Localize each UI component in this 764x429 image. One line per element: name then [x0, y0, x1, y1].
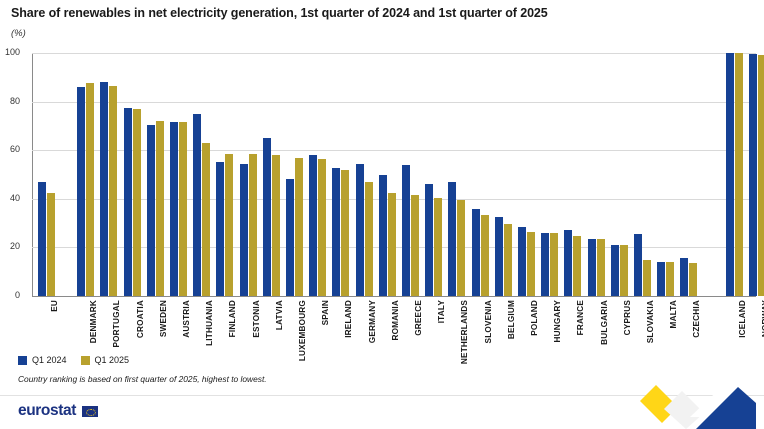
- bar-q1-2024[interactable]: [332, 168, 340, 296]
- x-axis-category-label: ROMANIA: [391, 300, 400, 341]
- bar-group: DENMARK: [77, 53, 95, 296]
- x-axis-category-label: FRANCE: [576, 300, 585, 335]
- bar-q1-2024[interactable]: [356, 164, 364, 296]
- bar-q1-2025[interactable]: [550, 233, 558, 296]
- bar-q1-2024[interactable]: [216, 162, 224, 296]
- bar-q1-2024[interactable]: [564, 230, 572, 296]
- bar-q1-2025[interactable]: [249, 154, 257, 296]
- y-axis-tick-label: 60: [0, 144, 20, 154]
- bar-q1-2025[interactable]: [411, 195, 419, 296]
- x-axis-category-label: CYPRUS: [623, 300, 632, 335]
- x-axis-category-label: IRELAND: [344, 300, 353, 338]
- x-axis-category-label: SLOVAKIA: [646, 300, 655, 343]
- bar-q1-2025[interactable]: [388, 193, 396, 296]
- bar-group: CYPRUS: [611, 53, 629, 296]
- bar-q1-2024[interactable]: [495, 217, 503, 296]
- bar-q1-2024[interactable]: [657, 262, 665, 296]
- legend-label-q1-2025: Q1 2025: [95, 355, 130, 365]
- bar-q1-2024[interactable]: [680, 258, 688, 296]
- legend-swatch-q1-2024: [18, 356, 27, 365]
- bar-q1-2025[interactable]: [620, 245, 628, 296]
- bar-group: ICELAND: [726, 53, 744, 296]
- x-axis-category-label: PORTUGAL: [112, 300, 121, 348]
- bar-q1-2024[interactable]: [541, 233, 549, 296]
- y-axis-tick-label: 0: [0, 290, 20, 300]
- chart-title: Share of renewables in net electricity g…: [11, 6, 548, 20]
- y-axis-tick-label: 40: [0, 193, 20, 203]
- bar-q1-2025[interactable]: [47, 193, 55, 296]
- x-axis-category-label: DENMARK: [89, 300, 98, 343]
- bar-q1-2025[interactable]: [341, 170, 349, 296]
- bar-q1-2025[interactable]: [272, 155, 280, 296]
- bar-q1-2025[interactable]: [133, 109, 141, 296]
- bar-group: POLAND: [518, 53, 536, 296]
- y-axis-tick-label: 20: [0, 241, 20, 251]
- bar-q1-2024[interactable]: [240, 164, 248, 296]
- bar-group: NORWAY: [749, 53, 764, 296]
- x-axis-category-label: SWEDEN: [159, 300, 168, 337]
- bar-q1-2025[interactable]: [225, 154, 233, 296]
- bar-group: LITHUANIA: [193, 53, 211, 296]
- bar-group: HUNGARY: [541, 53, 559, 296]
- x-axis-category-label: LITHUANIA: [205, 300, 214, 346]
- bar-group: IRELAND: [332, 53, 350, 296]
- x-axis-category-label: LUXEMBOURG: [298, 300, 307, 361]
- bar-group: ESTONIA: [240, 53, 258, 296]
- bar-q1-2025[interactable]: [457, 200, 465, 296]
- bar-q1-2025[interactable]: [735, 53, 743, 296]
- bar-q1-2024[interactable]: [379, 175, 387, 297]
- chart-unit-label: (%): [11, 28, 26, 39]
- x-axis-category-label: GERMANY: [368, 300, 377, 343]
- bar-group: GREECE: [402, 53, 420, 296]
- decorative-ribbon: [634, 357, 764, 429]
- bar-group: ITALY: [425, 53, 443, 296]
- bar-q1-2025[interactable]: [597, 239, 605, 296]
- bar-q1-2024[interactable]: [634, 234, 642, 296]
- bar-q1-2025[interactable]: [481, 215, 489, 296]
- bar-q1-2025[interactable]: [527, 232, 535, 296]
- y-axis-tick-label: 100: [0, 47, 20, 57]
- x-axis-category-label: AUSTRIA: [182, 300, 191, 338]
- bar-q1-2025[interactable]: [504, 224, 512, 296]
- bar-q1-2024[interactable]: [38, 182, 46, 296]
- bar-q1-2024[interactable]: [588, 239, 596, 296]
- bar-group: EU: [38, 53, 56, 296]
- x-axis-category-label: CZECHIA: [692, 300, 701, 338]
- bar-series-container: EUDENMARKPORTUGALCROATIASWEDENAUSTRIALIT…: [32, 53, 756, 296]
- eu-flag-icon: [82, 406, 98, 417]
- bar-group: CZECHIA: [680, 53, 698, 296]
- bar-q1-2024[interactable]: [402, 165, 410, 296]
- x-axis-category-label: BELGIUM: [507, 300, 516, 339]
- bar-group: BELGIUM: [495, 53, 513, 296]
- x-axis-category-label: ICELAND: [738, 300, 747, 338]
- bar-group: LATVIA: [263, 53, 281, 296]
- chart-footnote: Country ranking is based on first quarte…: [18, 374, 267, 384]
- bar-group: CROATIA: [124, 53, 142, 296]
- bar-q1-2025[interactable]: [573, 236, 581, 296]
- bar-q1-2024[interactable]: [448, 182, 456, 296]
- bar-q1-2024[interactable]: [263, 138, 271, 296]
- chart-page: Share of renewables in net electricity g…: [0, 0, 764, 429]
- bar-group: ROMANIA: [379, 53, 397, 296]
- gridline: [32, 296, 756, 297]
- bar-group: LUXEMBOURG: [286, 53, 304, 296]
- bar-group: GERMANY: [356, 53, 374, 296]
- x-axis-category-label: FINLAND: [228, 300, 237, 337]
- legend-swatch-q1-2025: [81, 356, 90, 365]
- bar-q1-2024[interactable]: [147, 125, 155, 296]
- x-axis-category-label: HUNGARY: [553, 300, 562, 343]
- x-axis-category-label: CROATIA: [136, 300, 145, 338]
- bar-q1-2024[interactable]: [77, 87, 85, 296]
- x-axis-category-label: MALTA: [669, 300, 678, 328]
- bar-q1-2024[interactable]: [749, 54, 757, 296]
- bar-group: SPAIN: [309, 53, 327, 296]
- bar-q1-2024[interactable]: [518, 227, 526, 296]
- bar-q1-2025[interactable]: [295, 158, 303, 297]
- bar-group: SWEDEN: [147, 53, 165, 296]
- bar-q1-2025[interactable]: [318, 159, 326, 296]
- bar-q1-2025[interactable]: [202, 143, 210, 296]
- plot-area: 020406080100 EUDENMARKPORTUGALCROATIASWE…: [32, 53, 756, 296]
- x-axis-category-label: LATVIA: [275, 300, 284, 330]
- eurostat-logo: eurostat: [18, 402, 98, 420]
- bar-group: BULGARIA: [588, 53, 606, 296]
- x-axis-category-label: BULGARIA: [600, 300, 609, 345]
- bar-q1-2025[interactable]: [179, 122, 187, 296]
- bar-q1-2025[interactable]: [365, 182, 373, 296]
- bar-group: MALTA: [657, 53, 675, 296]
- x-axis-category-label: GREECE: [414, 300, 423, 336]
- bar-q1-2024[interactable]: [100, 82, 108, 296]
- bar-q1-2024[interactable]: [425, 184, 433, 296]
- legend-item-q1-2025[interactable]: Q1 2025: [81, 355, 130, 365]
- x-axis-category-label: SPAIN: [321, 300, 330, 325]
- bar-q1-2024[interactable]: [726, 53, 734, 296]
- bar-q1-2024[interactable]: [472, 209, 480, 296]
- x-axis-category-label: ESTONIA: [252, 300, 261, 338]
- y-axis-tick-label: 80: [0, 96, 20, 106]
- bar-group: AUSTRIA: [170, 53, 188, 296]
- bar-q1-2025[interactable]: [758, 55, 764, 296]
- legend-item-q1-2024[interactable]: Q1 2024: [18, 355, 67, 365]
- bar-q1-2024[interactable]: [193, 114, 201, 296]
- bar-q1-2024[interactable]: [170, 122, 178, 296]
- x-axis-category-label: NETHERLANDS: [460, 300, 469, 364]
- legend: Q1 2024 Q1 2025: [18, 355, 129, 365]
- bar-q1-2025[interactable]: [86, 83, 94, 296]
- bar-q1-2025[interactable]: [434, 198, 442, 296]
- bar-group: FRANCE: [564, 53, 582, 296]
- bar-group: FINLAND: [216, 53, 234, 296]
- bar-group: PORTUGAL: [100, 53, 118, 296]
- bar-q1-2025[interactable]: [666, 262, 674, 296]
- x-axis-category-label: EU: [50, 300, 59, 312]
- x-axis-category-label: POLAND: [530, 300, 539, 336]
- bar-q1-2025[interactable]: [689, 263, 697, 296]
- bar-group: SLOVENIA: [472, 53, 490, 296]
- eurostat-wordmark: eurostat: [18, 402, 76, 420]
- bar-group: SLOVAKIA: [634, 53, 652, 296]
- bar-q1-2024[interactable]: [124, 108, 132, 296]
- bar-q1-2024[interactable]: [286, 179, 294, 296]
- bar-q1-2024[interactable]: [309, 155, 317, 296]
- bar-q1-2025[interactable]: [109, 86, 117, 296]
- x-axis-category-label: ITALY: [437, 300, 446, 323]
- bar-q1-2024[interactable]: [611, 245, 619, 296]
- legend-label-q1-2024: Q1 2024: [32, 355, 67, 365]
- bar-group: NETHERLANDS: [448, 53, 466, 296]
- x-axis-category-label: SLOVENIA: [484, 300, 493, 343]
- bar-q1-2025[interactable]: [643, 260, 651, 296]
- bar-q1-2025[interactable]: [156, 121, 164, 296]
